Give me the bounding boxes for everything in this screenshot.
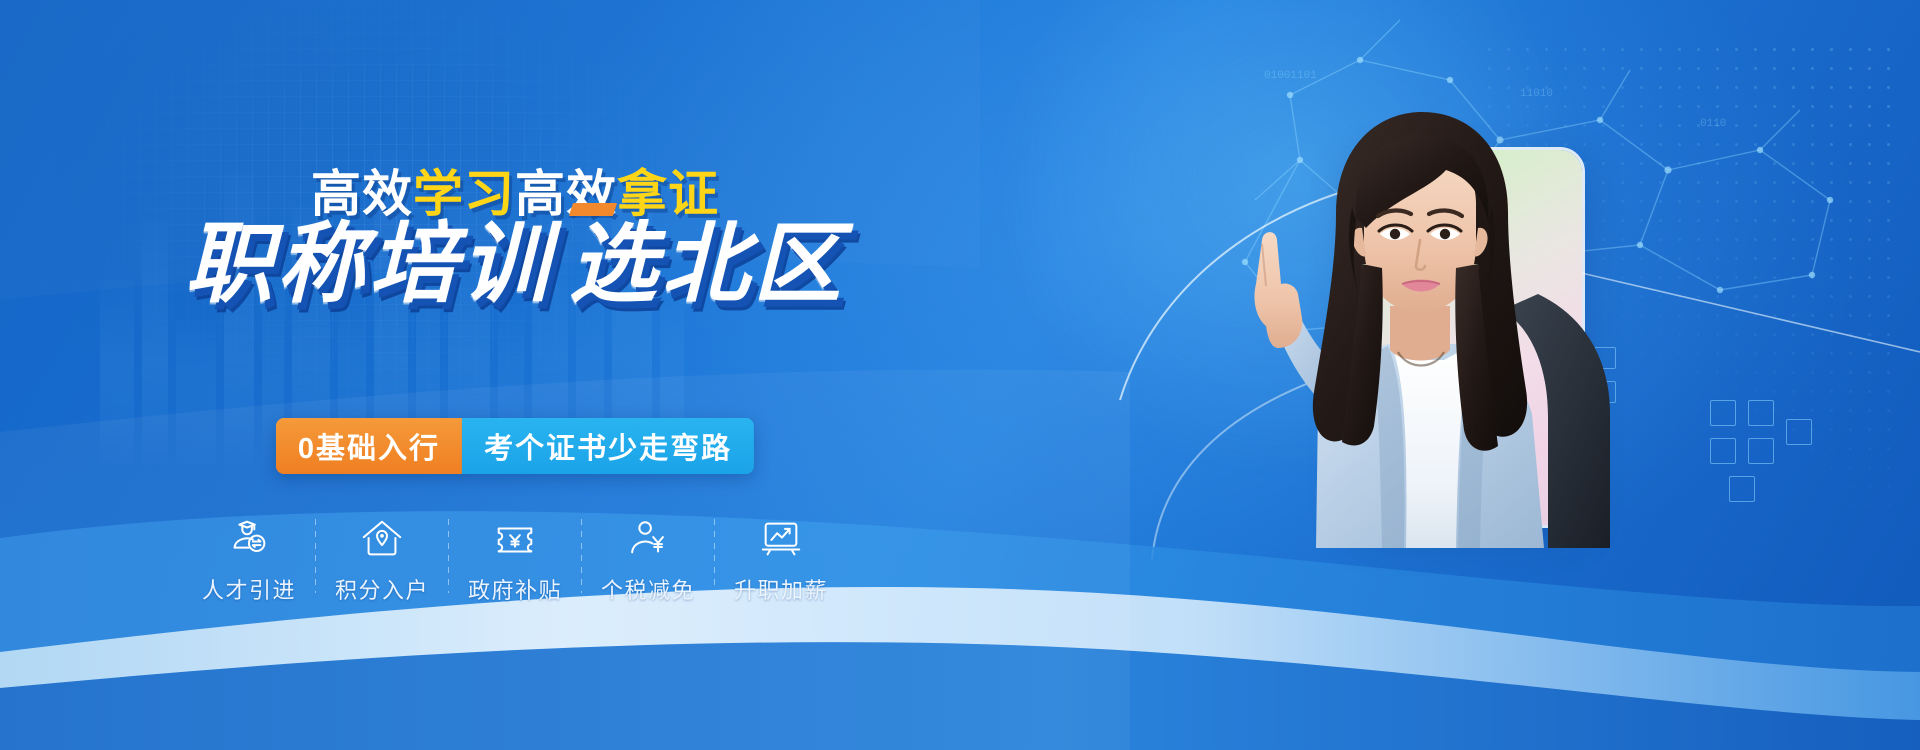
feature-item-points-residency[interactable]: 积分入户 <box>316 516 448 605</box>
main-headline: 职称培训选北区 <box>185 216 845 311</box>
person-yuan-icon <box>625 516 671 562</box>
house-pin-icon <box>359 516 405 562</box>
woman-pointing-photo <box>1140 78 1700 638</box>
headline-wrapper: 职称培训选北区 <box>0 216 1030 311</box>
feature-label: 个税减免 <box>601 573 695 605</box>
feature-divider <box>315 519 316 593</box>
headline-segment-1: 职称培训 <box>185 214 553 313</box>
feature-label: 政府补贴 <box>468 573 562 605</box>
copy-block: 高效学习高效拿证 职称培训选北区 0基础入行 考个证书少走弯路 <box>0 0 1030 750</box>
promo-banner: 01001101 11010 0110 <box>0 0 1920 750</box>
graduate-person-icon <box>226 516 272 562</box>
headline-accent-character: 选 <box>569 216 661 311</box>
feature-list: 人才引进 积分入户 政府补贴 <box>183 516 847 605</box>
badge-primary-label: 0基础入行 <box>276 418 462 474</box>
feature-item-promotion-raise[interactable]: 升职加薪 <box>715 516 847 605</box>
feature-item-talent-introduction[interactable]: 人才引进 <box>183 516 315 605</box>
feature-item-government-subsidy[interactable]: 政府补贴 <box>449 516 581 605</box>
badge-secondary-label: 考个证书少走弯路 <box>462 418 754 474</box>
feature-divider <box>581 519 582 593</box>
feature-label: 人才引进 <box>202 573 296 605</box>
feature-divider <box>714 519 715 593</box>
feature-divider <box>448 519 449 593</box>
headline-segment-2: 北区 <box>661 214 845 313</box>
feature-item-tax-reduction[interactable]: 个税减免 <box>582 516 714 605</box>
feature-label: 积分入户 <box>335 573 429 605</box>
chart-growth-icon <box>758 516 804 562</box>
ticket-yuan-icon <box>492 516 538 562</box>
model-photo-area <box>1020 0 1920 750</box>
promo-badge[interactable]: 0基础入行 考个证书少走弯路 <box>276 418 754 474</box>
feature-label: 升职加薪 <box>734 573 828 605</box>
